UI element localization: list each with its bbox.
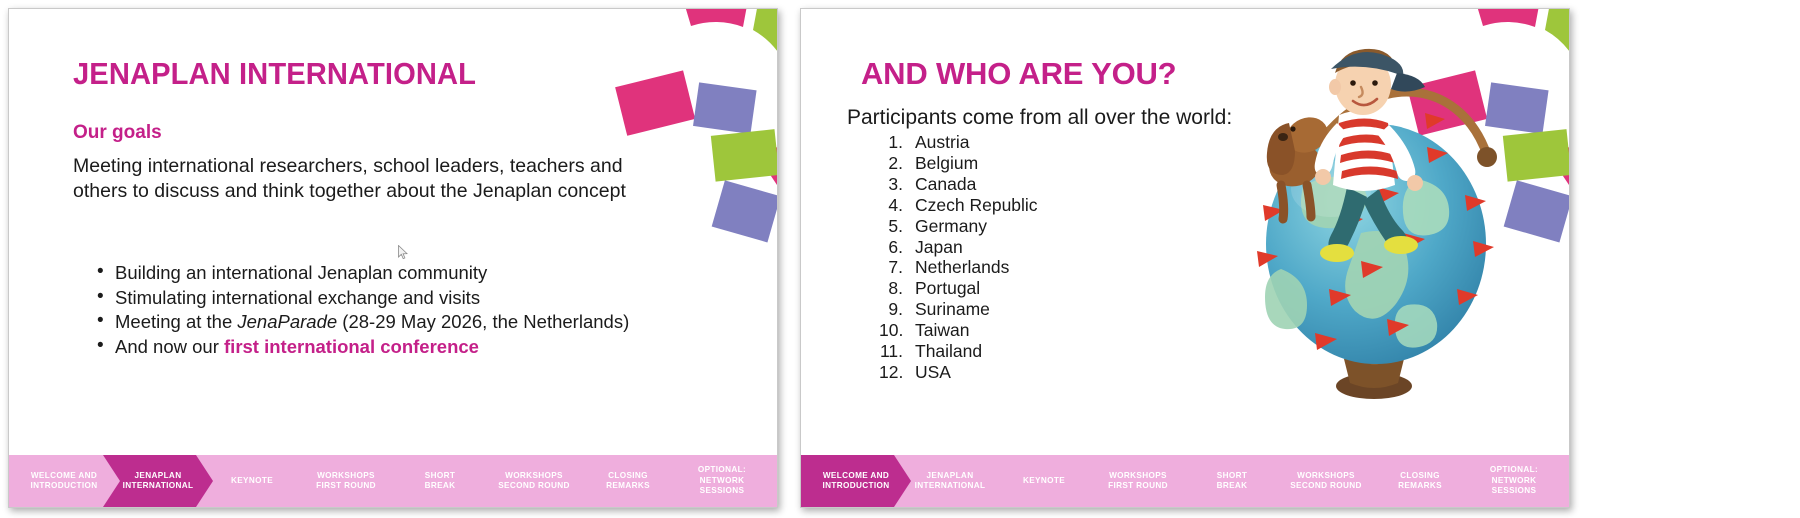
agenda-step-welcome-and-introduction[interactable]: WELCOME AND INTRODUCTION [801, 455, 911, 507]
country-list-number: 3. [879, 174, 915, 195]
country-name: Taiwan [915, 320, 969, 341]
agenda-step-welcome-and-introduction[interactable]: WELCOME AND INTRODUCTION [9, 455, 119, 507]
agenda-step-jenaplan-international[interactable]: JENAPLAN INTERNATIONAL [103, 455, 213, 507]
agenda-step-label: OPTIONAL: NETWORK SESSIONS [1490, 465, 1538, 497]
country-name: Canada [915, 174, 976, 195]
country-name: Suriname [915, 299, 990, 320]
mouse-cursor-icon [398, 245, 409, 260]
agenda-step-label: WORKSHOPS FIRST ROUND [1108, 471, 1168, 492]
slide1-bullet-list: Building an international Jenaplan commu… [95, 261, 715, 359]
country-list-number: 6. [879, 237, 915, 258]
country-list-number: 9. [879, 299, 915, 320]
country-list-number: 7. [879, 257, 915, 278]
slide1-bullet-item: Building an international Jenaplan commu… [95, 261, 715, 286]
slide-and-who-are-you[interactable]: AND WHO ARE YOU? Participants come from … [800, 8, 1570, 508]
agenda-step-closing-remarks[interactable]: CLOSING REMARKS [1365, 455, 1475, 507]
agenda-step-label: KEYNOTE [1023, 476, 1065, 487]
country-list-item: 10.Taiwan [879, 320, 1038, 341]
agenda-step-workshops-first-round[interactable]: WORKSHOPS FIRST ROUND [1083, 455, 1193, 507]
country-name: Czech Republic [915, 195, 1038, 216]
country-list-item: 11.Thailand [879, 341, 1038, 362]
country-list-item: 3.Canada [879, 174, 1038, 195]
agenda-step-label: WORKSHOPS SECOND ROUND [498, 471, 570, 492]
country-name: Belgium [915, 153, 978, 174]
country-name: Japan [915, 237, 963, 258]
country-list-item: 1.Austria [879, 132, 1038, 153]
agenda-step-label: CLOSING REMARKS [1398, 471, 1442, 492]
bullet-italic-term: JenaParade [237, 311, 337, 332]
agenda-step-closing-remarks[interactable]: CLOSING REMARKS [573, 455, 683, 507]
agenda-step-short-break[interactable]: SHORT BREAK [385, 455, 495, 507]
slide1-bullet-item: And now our first international conferen… [95, 335, 715, 360]
agenda-step-workshops-second-round[interactable]: WORKSHOPS SECOND ROUND [479, 455, 589, 507]
country-list-number: 8. [879, 278, 915, 299]
agenda-step-optional-network-sessions[interactable]: OPTIONAL: NETWORK SESSIONS [667, 455, 777, 507]
country-list-number: 2. [879, 153, 915, 174]
country-list-item: 4.Czech Republic [879, 195, 1038, 216]
country-name: Portugal [915, 278, 980, 299]
country-list-number: 12. [879, 362, 915, 383]
country-list-item: 12.USA [879, 362, 1038, 383]
pinwheel-decoration-icon [1299, 8, 1570, 309]
country-list-item: 5.Germany [879, 216, 1038, 237]
slide1-bullet-item: Meeting at the JenaParade (28-29 May 202… [95, 310, 715, 335]
agenda-step-label: OPTIONAL: NETWORK SESSIONS [698, 465, 746, 497]
slide1-title: JENAPLAN INTERNATIONAL [73, 56, 476, 92]
agenda-step-label: CLOSING REMARKS [606, 471, 650, 492]
agenda-step-label: WORKSHOPS SECOND ROUND [1290, 471, 1362, 492]
agenda-step-keynote[interactable]: KEYNOTE [197, 455, 307, 507]
agenda-step-optional-network-sessions[interactable]: OPTIONAL: NETWORK SESSIONS [1459, 455, 1569, 507]
country-list-item: 2.Belgium [879, 153, 1038, 174]
country-list-number: 11. [879, 341, 915, 362]
country-list-number: 5. [879, 216, 915, 237]
agenda-step-keynote[interactable]: KEYNOTE [989, 455, 1099, 507]
slide1-paragraph: Meeting international researchers, schoo… [73, 154, 633, 204]
slide1-subtitle: Our goals [73, 122, 162, 144]
country-list-item: 8.Portugal [879, 278, 1038, 299]
country-list-number: 1. [879, 132, 915, 153]
country-name: Austria [915, 132, 969, 153]
agenda-step-label: SHORT BREAK [425, 471, 456, 492]
country-list-number: 4. [879, 195, 915, 216]
agenda-step-label: JENAPLAN INTERNATIONAL [915, 471, 986, 492]
slide2-lead-text: Participants come from all over the worl… [847, 106, 1232, 130]
agenda-step-jenaplan-international[interactable]: JENAPLAN INTERNATIONAL [895, 455, 1005, 507]
slide-pair-view: JENAPLAN INTERNATIONAL Our goals Meeting… [0, 0, 1800, 518]
agenda-step-label: SHORT BREAK [1217, 471, 1248, 492]
slide1-agenda-navbar[interactable]: WELCOME AND INTRODUCTIONJENAPLAN INTERNA… [9, 455, 777, 507]
agenda-step-workshops-first-round[interactable]: WORKSHOPS FIRST ROUND [291, 455, 401, 507]
boy-with-dog-on-globe-icon [1211, 37, 1541, 402]
country-name: Thailand [915, 341, 982, 362]
country-name: Netherlands [915, 257, 1009, 278]
agenda-step-label: WELCOME AND INTRODUCTION [31, 471, 98, 492]
country-list-item: 9.Suriname [879, 299, 1038, 320]
bullet-accent-phrase: first international conference [224, 336, 479, 357]
slide2-country-list: 1.Austria2.Belgium3.Canada4.Czech Republ… [879, 132, 1038, 383]
agenda-step-short-break[interactable]: SHORT BREAK [1177, 455, 1287, 507]
country-name: Germany [915, 216, 987, 237]
slide2-title: AND WHO ARE YOU? [861, 56, 1176, 92]
agenda-step-label: WORKSHOPS FIRST ROUND [316, 471, 376, 492]
agenda-step-label: WELCOME AND INTRODUCTION [823, 471, 890, 492]
agenda-step-label: KEYNOTE [231, 476, 273, 487]
agenda-step-workshops-second-round[interactable]: WORKSHOPS SECOND ROUND [1271, 455, 1381, 507]
country-list-number: 10. [879, 320, 915, 341]
slide-jenaplan-international[interactable]: JENAPLAN INTERNATIONAL Our goals Meeting… [8, 8, 778, 508]
country-list-item: 7.Netherlands [879, 257, 1038, 278]
slide2-agenda-navbar[interactable]: WELCOME AND INTRODUCTIONJENAPLAN INTERNA… [801, 455, 1569, 507]
agenda-step-label: JENAPLAN INTERNATIONAL [123, 471, 194, 492]
country-name: USA [915, 362, 951, 383]
country-list-item: 6.Japan [879, 237, 1038, 258]
slide1-bullet-item: Stimulating international exchange and v… [95, 286, 715, 311]
